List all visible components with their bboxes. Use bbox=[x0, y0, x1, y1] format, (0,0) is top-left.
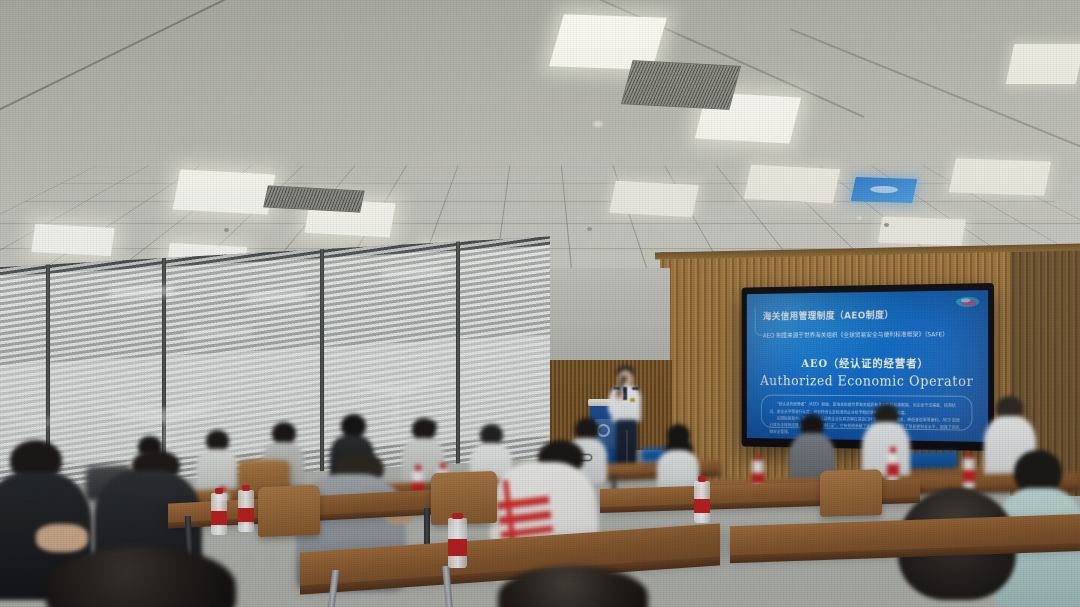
bottle-cap bbox=[415, 465, 422, 471]
desk-nameplate-right[interactable] bbox=[905, 451, 957, 468]
attendee-foreground-center bbox=[498, 566, 648, 607]
water-bottle[interactable] bbox=[887, 452, 899, 483]
bottle-cap bbox=[452, 513, 463, 519]
sprinkler-head bbox=[884, 223, 889, 227]
nameplate-text bbox=[928, 455, 935, 465]
chair bbox=[431, 471, 497, 525]
water-bottle[interactable] bbox=[448, 518, 467, 568]
bottle-label bbox=[963, 470, 975, 481]
attendee-hair bbox=[575, 418, 599, 440]
bottle-label bbox=[211, 511, 227, 525]
attendee-hair bbox=[272, 422, 296, 444]
attendee-glasses bbox=[572, 454, 592, 461]
partition-mullion bbox=[320, 249, 324, 471]
meeting-room-photo: 海关信用管理制度（AEO制度） AEO 制度来源于世界海关组织《全球贸易安全与便… bbox=[0, 0, 1080, 607]
slide-heading-english: Authorized Economic Operator bbox=[747, 374, 988, 390]
attendee-hair bbox=[46, 546, 236, 607]
presenter-epaulette bbox=[632, 387, 639, 390]
ceiling-led-panel bbox=[609, 181, 699, 217]
attendee-bun bbox=[424, 420, 437, 432]
bottle-cap bbox=[242, 485, 251, 491]
ceiling-led-panel bbox=[744, 165, 840, 204]
slide-heading-chinese: AEO（经认证的经营者） bbox=[747, 355, 988, 371]
attendee-hair bbox=[206, 430, 229, 451]
blue-ceiling-light-panel bbox=[851, 177, 918, 203]
attendee-hair bbox=[341, 414, 366, 437]
bottle-label bbox=[448, 539, 467, 556]
presenter-necktie bbox=[623, 387, 627, 400]
smoke-detector bbox=[855, 215, 864, 221]
bottle-cap bbox=[215, 488, 224, 494]
bottle-label bbox=[887, 464, 899, 475]
sprinkler-head bbox=[587, 227, 592, 231]
ceiling-led-panel bbox=[878, 217, 966, 246]
partition-mullion bbox=[456, 241, 460, 463]
slide-decor-bracket bbox=[755, 307, 763, 336]
presenter-badge bbox=[630, 398, 635, 402]
water-bottle[interactable] bbox=[963, 458, 975, 489]
customs-emblem-logo bbox=[955, 295, 980, 308]
attendee-hair bbox=[498, 566, 648, 607]
ceiling-air-vent bbox=[621, 60, 741, 110]
water-bottle[interactable] bbox=[238, 490, 254, 532]
ceiling-led-panel bbox=[949, 158, 1052, 195]
chair bbox=[258, 485, 320, 537]
bottle-cap bbox=[755, 455, 762, 461]
ceiling-led-panel bbox=[173, 169, 276, 214]
bottle-cap bbox=[440, 463, 447, 469]
shirt-red-print bbox=[494, 475, 553, 543]
water-bottle[interactable] bbox=[694, 481, 710, 523]
bottle-cap bbox=[966, 453, 973, 459]
ceiling-led-panel bbox=[31, 224, 114, 256]
ceiling-speaker bbox=[592, 120, 604, 128]
slide-subtitle: AEO 制度来源于世界海关组织《全球贸易安全与便利标准框架》（SAFE） bbox=[763, 329, 976, 339]
slide-title: 海关信用管理制度（AEO制度） bbox=[763, 307, 894, 322]
bottle-label bbox=[694, 499, 710, 513]
bottle-cap bbox=[890, 447, 897, 453]
sprinkler-head bbox=[224, 228, 229, 232]
water-bottle[interactable] bbox=[211, 493, 227, 535]
bottle-label bbox=[752, 473, 764, 485]
bottle-cap bbox=[698, 476, 707, 482]
bottle-label bbox=[238, 508, 254, 522]
attendee-foreground-left bbox=[46, 546, 236, 607]
ceiling-led-panel bbox=[1006, 44, 1080, 84]
chair bbox=[820, 469, 882, 517]
